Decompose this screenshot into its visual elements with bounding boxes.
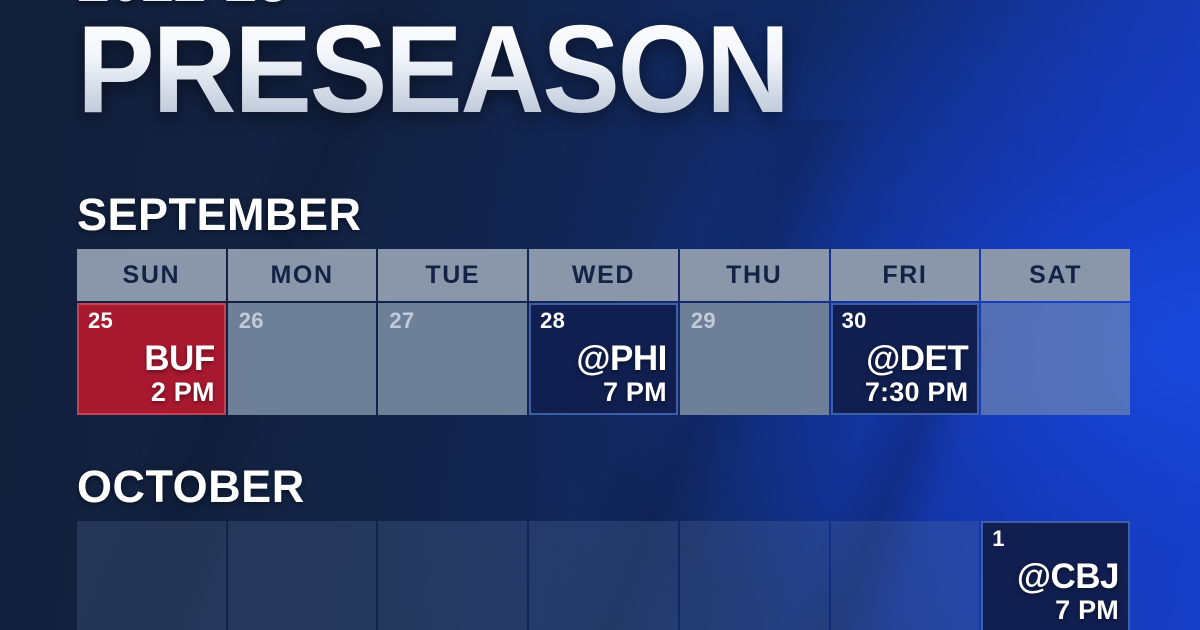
day-number: 26 bbox=[239, 310, 366, 332]
month-section-september: SEPTEMBERSUNMONTUEWEDTHUFRISAT25BUF2 PM2… bbox=[77, 192, 1130, 415]
weekday-header-sun: SUN bbox=[77, 249, 226, 301]
calendar-day-cell bbox=[529, 521, 678, 630]
calendar-day-game-cell[interactable]: 1@CBJ7 PM bbox=[981, 521, 1130, 630]
game-info: @CBJ7 PM bbox=[992, 559, 1119, 624]
opponent-abbreviation: @CBJ bbox=[992, 559, 1119, 594]
game-time: 7 PM bbox=[992, 597, 1119, 624]
calendar-day-cell bbox=[378, 521, 527, 630]
month-title: OCTOBER bbox=[77, 464, 1130, 509]
calendar-day-cell bbox=[831, 521, 980, 630]
page-title: PRESEASON bbox=[77, 12, 1073, 129]
opponent-abbreviation: BUF bbox=[88, 341, 215, 376]
day-number: 29 bbox=[691, 310, 818, 332]
day-number: 27 bbox=[389, 310, 516, 332]
weekday-header-sat: SAT bbox=[981, 249, 1130, 301]
calendar-day-game-cell[interactable]: 25BUF2 PM bbox=[77, 303, 226, 415]
day-number: 30 bbox=[842, 310, 969, 332]
opponent-abbreviation: @DET bbox=[842, 341, 969, 376]
weekday-header-row: SUNMONTUEWEDTHUFRISAT bbox=[77, 249, 1130, 301]
calendar-week-row: 1@CBJ7 PM bbox=[77, 521, 1130, 630]
day-number: 25 bbox=[88, 310, 215, 332]
weekday-header-wed: WED bbox=[529, 249, 678, 301]
month-section-october: OCTOBER1@CBJ7 PM bbox=[77, 464, 1130, 630]
day-number: 1 bbox=[992, 528, 1119, 550]
calendar-day-cell bbox=[680, 521, 829, 630]
weekday-header-fri: FRI bbox=[831, 249, 980, 301]
game-time: 2 PM bbox=[88, 379, 215, 406]
headline-group: 2022-23 PRESEASON bbox=[77, 0, 1137, 129]
game-time: 7:30 PM bbox=[842, 379, 969, 406]
calendar-week-row: 25BUF2 PM262728@PHI7 PM2930@DET7:30 PM bbox=[77, 303, 1130, 415]
weekday-header-thu: THU bbox=[680, 249, 829, 301]
calendar-day-cell: 26 bbox=[228, 303, 377, 415]
day-number: 28 bbox=[540, 310, 667, 332]
calendar-day-game-cell[interactable]: 28@PHI7 PM bbox=[529, 303, 678, 415]
calendar-day-cell bbox=[228, 521, 377, 630]
game-info: @DET7:30 PM bbox=[842, 341, 969, 406]
game-time: 7 PM bbox=[540, 379, 667, 406]
game-info: @PHI7 PM bbox=[540, 341, 667, 406]
calendar-day-cell: 27 bbox=[378, 303, 527, 415]
calendar-day-game-cell[interactable]: 30@DET7:30 PM bbox=[831, 303, 980, 415]
preseason-schedule-graphic: 2022-23 PRESEASON SEPTEMBERSUNMONTUEWEDT… bbox=[0, 0, 1200, 630]
month-title: SEPTEMBER bbox=[77, 192, 1130, 237]
opponent-abbreviation: @PHI bbox=[540, 341, 667, 376]
calendar-day-cell bbox=[981, 303, 1130, 415]
calendar-day-cell bbox=[77, 521, 226, 630]
weekday-header-mon: MON bbox=[228, 249, 377, 301]
calendar-day-cell: 29 bbox=[680, 303, 829, 415]
weekday-header-tue: TUE bbox=[378, 249, 527, 301]
game-info: BUF2 PM bbox=[88, 341, 215, 406]
